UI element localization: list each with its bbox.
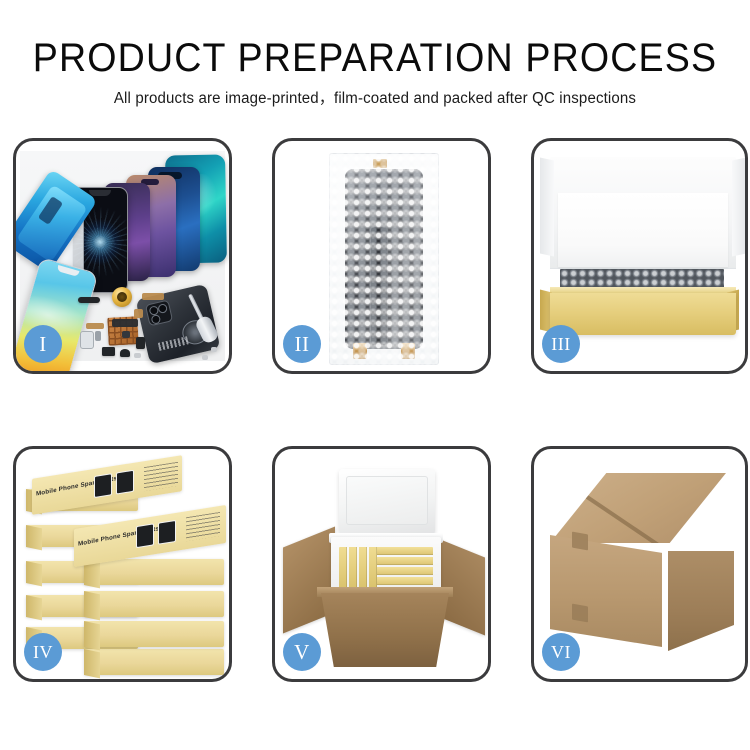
step-badge-4: IV xyxy=(24,633,62,671)
battery-connector-icon xyxy=(136,337,145,349)
step-badge-2: II xyxy=(283,325,321,363)
printed-screen-image xyxy=(94,473,112,498)
packed-box-vertical xyxy=(359,547,367,591)
flex-cable-icon xyxy=(86,323,104,329)
panel-step-4: Mobile Phone Spare Parts Mobile Phone Sp… xyxy=(13,446,232,682)
screw-icon xyxy=(134,353,141,358)
component-chip-icon xyxy=(102,347,115,356)
page-title: PRODUCT PREPARATION PROCESS xyxy=(23,36,728,80)
small-part-icon xyxy=(122,331,130,338)
stacked-box xyxy=(84,649,224,675)
printed-screen-image xyxy=(158,520,176,545)
product-preparation-infographic: PRODUCT PREPARATION PROCESS All products… xyxy=(0,0,750,750)
screw-icon xyxy=(202,355,208,360)
panel-step-5: V xyxy=(272,446,491,682)
white-foam-sheet xyxy=(558,193,728,267)
carton-side-face xyxy=(668,551,734,651)
printed-spec-lines xyxy=(144,462,178,491)
flex-cable-icon xyxy=(134,309,143,318)
packed-box-horizontal xyxy=(377,547,433,555)
bubble-wrap-bag xyxy=(329,153,439,365)
printed-screen-image xyxy=(116,470,134,495)
page-subtitle: All products are image-printed，film-coat… xyxy=(11,89,739,108)
panel-step-2: II xyxy=(272,138,491,374)
plastic-sheen xyxy=(329,153,439,365)
process-step-grid: I II xyxy=(13,138,750,682)
box-side xyxy=(84,591,100,620)
panel-step-3: III xyxy=(531,138,748,374)
stacked-box xyxy=(84,621,224,647)
foam-cooler-lid xyxy=(339,469,435,535)
sealed-carton xyxy=(544,473,740,663)
lid-print-front: Mobile Phone Spare Parts xyxy=(74,505,226,567)
packed-boxes-group xyxy=(339,547,433,591)
carton-front-face xyxy=(550,535,662,647)
packed-box-horizontal xyxy=(377,577,433,585)
step-badge-3: III xyxy=(542,325,580,363)
box-side xyxy=(26,525,42,550)
packed-box-vertical xyxy=(339,547,347,591)
box-front-face xyxy=(550,293,736,335)
speaker-module-icon xyxy=(120,349,130,357)
small-part-icon xyxy=(95,331,101,341)
carton-body xyxy=(321,593,449,667)
flex-cable-icon xyxy=(112,319,138,327)
stacked-box xyxy=(84,591,224,617)
component-chip-icon xyxy=(78,297,100,303)
box-side xyxy=(26,561,42,586)
screw-icon xyxy=(211,347,217,352)
phone-notch-icon xyxy=(89,190,111,196)
packed-box-vertical xyxy=(369,547,377,591)
camera-ring-icon xyxy=(112,287,132,307)
panel-step-6: VI xyxy=(531,446,748,682)
panel-step-1: I xyxy=(13,138,232,374)
box-side xyxy=(84,649,100,678)
header: PRODUCT PREPARATION PROCESS All products… xyxy=(0,36,750,108)
printed-box-lid-front: Mobile Phone Spare Parts xyxy=(74,505,226,567)
step-badge-6: VI xyxy=(542,633,580,671)
housing-label-icon xyxy=(158,336,189,351)
flex-cable-icon xyxy=(142,293,164,300)
packed-box-horizontal xyxy=(377,567,433,575)
step-badge-5: V xyxy=(283,633,321,671)
step-badge-1: I xyxy=(24,325,62,363)
stacked-box xyxy=(84,559,224,585)
tape-patch-icon xyxy=(572,604,588,623)
printed-spec-lines xyxy=(186,512,220,541)
printed-screen-image xyxy=(136,523,154,548)
packed-box-vertical xyxy=(349,547,357,591)
box-side xyxy=(26,595,42,620)
packed-box-horizontal xyxy=(377,557,433,565)
tape-patch-icon xyxy=(572,532,588,551)
sim-tray-icon xyxy=(80,331,94,349)
box-side xyxy=(84,621,100,650)
